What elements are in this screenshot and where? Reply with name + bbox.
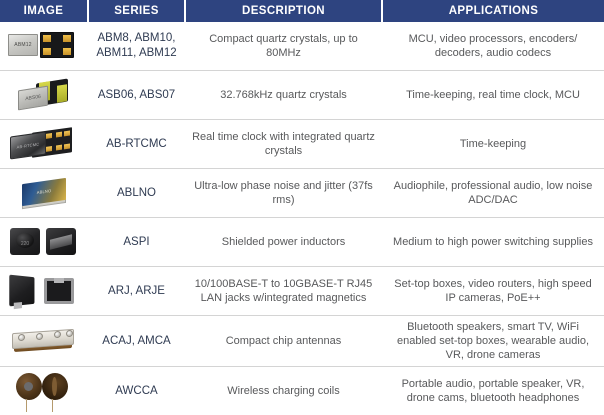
- column-header-description: DESCRIPTION: [185, 0, 382, 22]
- inductor-value-label: 220: [10, 237, 40, 251]
- product-image-cell: ABS06: [0, 71, 88, 120]
- table-row: 220 ASPI Shielded power inductors Medium…: [0, 218, 604, 267]
- series-cell: ASPI: [88, 218, 185, 267]
- abs-package-label: ABS06: [25, 90, 41, 106]
- ablno-oscillator-image: ABLNO: [2, 171, 86, 215]
- table-row: AB-RTCMC AB-RTCMC Real time clock with i…: [0, 120, 604, 169]
- awcca-charging-coil-image: [2, 369, 86, 413]
- table-row: ACAJ, AMCA Compact chip antennas Bluetoo…: [0, 316, 604, 367]
- table-row: ABS06 ASB06, ABS07 32.768kHz quartz crys…: [0, 71, 604, 120]
- inductor-top-view: 220: [10, 228, 40, 255]
- solder-pad-icon: [63, 35, 71, 42]
- gold-pin-icon: [56, 132, 62, 138]
- gold-pin-icon: [46, 133, 52, 139]
- table-header-row: IMAGE SERIES DESCRIPTION APPLICATIONS: [0, 0, 604, 22]
- series-cell: ACAJ, AMCA: [88, 316, 185, 367]
- abm-quartz-crystal-image: ABM12: [2, 24, 86, 68]
- product-image-cell: ABM12: [0, 22, 88, 71]
- aspi-shielded-inductor-image: 220: [2, 220, 86, 264]
- product-image-cell: ABLNO: [0, 169, 88, 218]
- rtc-package-label: AB-RTCMC: [17, 137, 40, 154]
- product-image-cell: AB-RTCMC: [0, 120, 88, 169]
- description-cell: 32.768kHz quartz crystals: [185, 71, 382, 120]
- gold-pin-icon: [56, 145, 62, 151]
- product-image-cell: [0, 267, 88, 316]
- rj45-jack-front: [44, 278, 74, 304]
- product-selection-table: IMAGE SERIES DESCRIPTION APPLICATIONS AB…: [0, 0, 604, 415]
- applications-cell: Audiophile, professional audio, low nois…: [382, 169, 604, 218]
- charging-coil-back: [42, 373, 68, 400]
- coil-lead-icon: [26, 399, 27, 412]
- description-cell: Compact quartz crystals, up to 80MHz: [185, 22, 382, 71]
- gold-pin-icon: [64, 130, 70, 136]
- charging-coil-front: [16, 373, 42, 400]
- abs-tuning-fork-crystal-image: ABS06: [2, 73, 86, 117]
- series-cell: ABM8, ABM10, ABM11, ABM12: [88, 22, 185, 71]
- applications-cell: Medium to high power switching supplies: [382, 218, 604, 267]
- series-cell: AB-RTCMC: [88, 120, 185, 169]
- abm-silver-package: ABM12: [8, 34, 38, 56]
- solder-pad-icon: [63, 48, 71, 55]
- series-cell: ABLNO: [88, 169, 185, 218]
- table-row: ARJ, ARJE 10/100BASE-T to 10GBASE-T RJ45…: [0, 267, 604, 316]
- description-cell: Real time clock with integrated quartz c…: [185, 120, 382, 169]
- description-cell: 10/100BASE-T to 10GBASE-T RJ45 LAN jacks…: [185, 267, 382, 316]
- table-row: ABLNO ABLNO Ultra-low phase noise and ji…: [0, 169, 604, 218]
- ab-rtcmc-module-image: AB-RTCMC: [2, 122, 86, 166]
- column-header-series: SERIES: [88, 0, 185, 22]
- arj-rj45-jack-image: [2, 269, 86, 313]
- solder-pad-icon: [43, 48, 51, 55]
- gold-pin-icon: [46, 146, 52, 152]
- applications-cell: Time-keeping, real time clock, MCU: [382, 71, 604, 120]
- abs-yellow-face: [57, 84, 67, 103]
- table-body: ABM12 ABM8, ABM10, ABM11, ABM12 Compact …: [0, 22, 604, 415]
- abm-black-package: [40, 32, 74, 58]
- table-header: IMAGE SERIES DESCRIPTION APPLICATIONS: [0, 0, 604, 22]
- column-header-applications: APPLICATIONS: [382, 0, 604, 22]
- series-cell: ARJ, ARJE: [88, 267, 185, 316]
- acaj-chip-antenna-image: [2, 319, 86, 363]
- series-cell: ASB06, ABS07: [88, 71, 185, 120]
- abs-silver-package: ABS06: [18, 86, 48, 111]
- applications-cell: Time-keeping: [382, 120, 604, 169]
- applications-cell: Bluetooth speakers, smart TV, WiFi enabl…: [382, 316, 604, 367]
- description-cell: Ultra-low phase noise and jitter (37fs r…: [185, 169, 382, 218]
- coil-lead-icon: [52, 399, 53, 412]
- column-header-image: IMAGE: [0, 0, 88, 22]
- solder-pad-icon: [43, 35, 51, 42]
- ablno-package-label: ABLNO: [37, 184, 52, 200]
- abm-package-label: ABM12: [14, 38, 31, 52]
- applications-cell: Set-top boxes, video routers, high speed…: [382, 267, 604, 316]
- applications-cell: MCU, video processors, encoders/ decoder…: [382, 22, 604, 71]
- rj45-jack-angled: [9, 275, 34, 307]
- product-image-cell: 220: [0, 218, 88, 267]
- inductor-side-view: [46, 228, 76, 255]
- product-image-cell: [0, 316, 88, 367]
- description-cell: Shielded power inductors: [185, 218, 382, 267]
- gold-pin-icon: [64, 143, 70, 149]
- description-cell: Compact chip antennas: [185, 316, 382, 367]
- table-row: ABM12 ABM8, ABM10, ABM11, ABM12 Compact …: [0, 22, 604, 71]
